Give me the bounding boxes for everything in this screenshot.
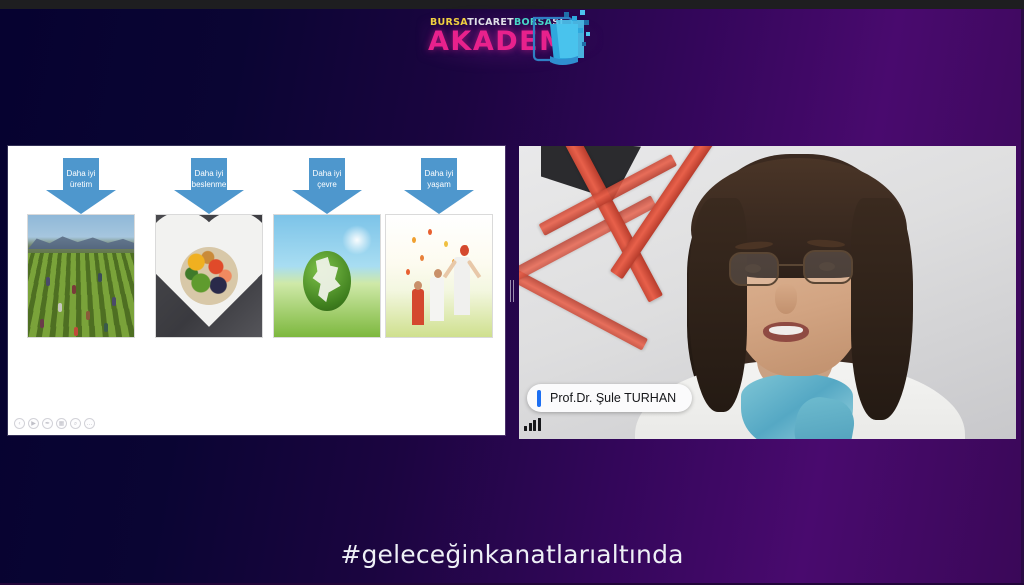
speaker-nose — [775, 284, 797, 314]
slide-image-4 — [385, 214, 493, 342]
eyeglasses-bridge — [779, 264, 803, 266]
eyeglasses-lens-right — [803, 250, 853, 284]
play-icon[interactable]: ▶ — [28, 418, 39, 429]
more-options-icon[interactable]: … — [84, 418, 95, 429]
down-arrow-icon: Daha iyi beslenme — [170, 158, 248, 214]
slide-image-1 — [27, 214, 135, 342]
name-accent-bar — [537, 390, 541, 407]
speaker-teeth — [769, 326, 803, 335]
down-arrow-icon: Daha iyi çevre — [288, 158, 366, 214]
slide-image-3 — [273, 214, 381, 342]
down-arrow-icon: Daha iyi üretim — [42, 158, 120, 214]
drag-handle-icon[interactable] — [509, 280, 515, 302]
footer-hashtag: #geleceğinkanatlarıaltında — [0, 540, 1024, 569]
participant-name-label: Prof.Dr. Şule TURHAN — [527, 384, 692, 412]
eyeglasses-lens-left — [729, 252, 779, 286]
all-slides-icon[interactable]: ▦ — [56, 418, 67, 429]
slide-column-2: Daha iyi beslenme — [154, 158, 264, 342]
participant-name-text: Prof.Dr. Şule TURHAN — [550, 391, 676, 405]
down-arrow-icon: Daha iyi yaşam — [400, 158, 478, 214]
slide-column-4: Daha iyi yaşam — [384, 158, 494, 342]
speaker-video-panel[interactable]: Prof.Dr. Şule TURHAN — [519, 146, 1016, 439]
slide-image-2 — [155, 214, 263, 342]
speaker-hair-left — [689, 198, 747, 412]
slide-column-1: Daha iyi üretim — [26, 158, 136, 342]
slide-toolbar[interactable]: ‹ ▶ ✒ ▦ ⌕ … — [14, 418, 95, 429]
slide-column-3: Daha iyi çevre — [272, 158, 382, 342]
akademi-logo: BURSATICARETBORSASI AKADEMi — [420, 8, 600, 70]
pen-icon[interactable]: ✒ — [42, 418, 53, 429]
signal-strength-icon — [524, 418, 541, 431]
previous-icon[interactable]: ‹ — [14, 418, 25, 429]
presentation-slide-panel[interactable]: Daha iyi üretim — [8, 146, 505, 435]
speaker-hair-right — [851, 198, 913, 420]
book-tablet-logo-icon — [528, 10, 594, 73]
zoom-icon[interactable]: ⌕ — [70, 418, 81, 429]
